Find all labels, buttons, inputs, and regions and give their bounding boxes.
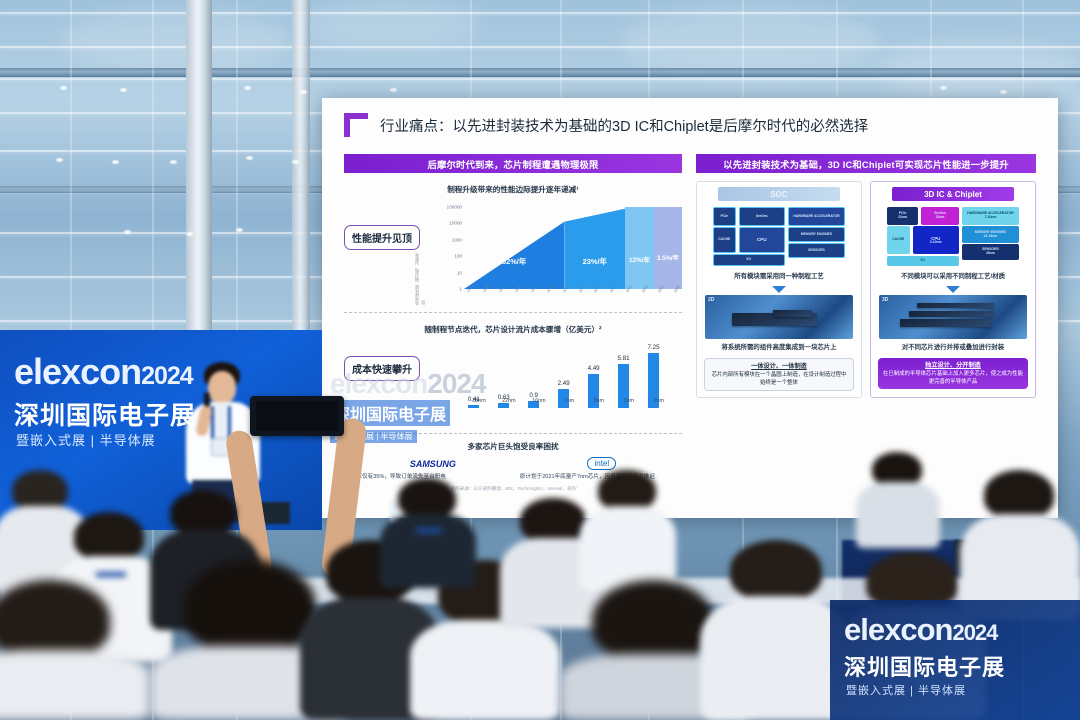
chiplet-block-cache: CACHE bbox=[887, 226, 910, 253]
ytick: 10000 bbox=[449, 221, 462, 226]
soc-stack-note: 将系统所需的组件高度集成到一块芯片上 bbox=[701, 343, 857, 353]
audience-member bbox=[856, 452, 940, 548]
area-segment-label: 12%/年 bbox=[625, 255, 653, 264]
photo-tag-3d: 3D bbox=[882, 297, 888, 303]
block-node: 22nm bbox=[936, 216, 945, 220]
corner-bracket-icon bbox=[344, 113, 368, 137]
ytick: 1 bbox=[459, 287, 462, 292]
slide-right-column: 以先进封装技术为基础，3D IC和Chiplet可实现芯片性能进一步提升 SOC… bbox=[696, 154, 1036, 398]
ytick: 10 bbox=[457, 270, 462, 275]
soc-block-cpu: CPU bbox=[739, 227, 785, 253]
chiplet-block-cpu: CPU 3-10nm bbox=[913, 226, 959, 253]
down-arrow-icon bbox=[772, 286, 786, 293]
area-chart: 性能提升见顶 单线程性能（相对值，对数坐标） 1 10 100 1000 100… bbox=[344, 199, 682, 305]
audience-member bbox=[960, 470, 1080, 620]
soc-note: 所有模块需采用同一种制程工艺 bbox=[701, 272, 857, 282]
bar-chart-caption: 随制程节点迭代，芯片设计流片成本骤增（亿美元）² bbox=[344, 324, 682, 335]
left-section-band: 后摩尔时代到来，芯片制程遭遇物理极限 bbox=[344, 154, 682, 173]
area-chart-ylabel: 单线程性能（相对值，对数坐标） bbox=[414, 249, 426, 305]
chiplet-block-sensors: SENSORS 28nm bbox=[962, 244, 1020, 260]
bar-category: 3nm bbox=[624, 398, 635, 404]
audience-member bbox=[580, 470, 676, 590]
ytick: 100 bbox=[454, 254, 462, 259]
soc-callout: 一体设计、一体制造 芯片内部所有模块在一个晶圆上制造，在设计制造过程中始终是一个… bbox=[704, 358, 854, 392]
vendor-logos: SAMSUNG intel bbox=[344, 457, 682, 470]
area-segment-label: 23%/年 bbox=[564, 256, 625, 267]
chiplet-block-hardware-accelerator: HARDWARE ACCELERATOR 7-10nm bbox=[962, 207, 1020, 224]
chiplet-note: 不同模块可以采用不同制程工艺/材质 bbox=[875, 272, 1031, 282]
samsung-logo: SAMSUNG bbox=[410, 459, 456, 469]
block-node: 3-10nm bbox=[930, 241, 942, 245]
chiplet-3d-photo: 3D bbox=[879, 295, 1027, 339]
chiplet-block-io: I/O bbox=[887, 256, 959, 267]
chiplet-callout-title: 独立设计、分开制造 bbox=[882, 361, 1024, 370]
pill-cost-rise: 成本快速攀升 bbox=[344, 356, 420, 381]
soc-block-io: I/O bbox=[713, 254, 785, 265]
chiplet-block-serdes: SerDes 22nm bbox=[921, 207, 958, 224]
photo-tag-2d: 2D bbox=[708, 297, 714, 303]
area-segment-label: 52%/年 bbox=[464, 256, 564, 267]
left-band-label: 后摩尔时代到来，芯片制程遭遇物理极限 bbox=[428, 157, 599, 171]
backdrop-brand: elexcon2024 bbox=[14, 354, 193, 390]
bar-category: 16nm bbox=[532, 398, 546, 404]
soc-header: SOC bbox=[718, 187, 840, 201]
bar-value: 5.81 bbox=[618, 355, 630, 362]
backdrop-cn: 深圳国际电子展 bbox=[14, 396, 196, 432]
slide-left-column: 后摩尔时代到来，芯片制程遭遇物理极限 制程升级带来的性能边际提升逐年递减¹ 性能… bbox=[344, 154, 682, 492]
area-segment-23: 23%/年 bbox=[564, 207, 625, 289]
yield-caption: 多家芯片巨头饱受良率困扰 bbox=[344, 441, 682, 452]
backdrop-brand-text: elexcon bbox=[14, 351, 141, 392]
audience-member bbox=[380, 478, 476, 588]
br-brand: elexcon2024 bbox=[844, 614, 997, 645]
br-sub: 暨嵌入式展 | 半导体展 bbox=[846, 682, 966, 698]
ytick: 1000 bbox=[452, 237, 462, 242]
bar-category: 28nm bbox=[472, 398, 486, 404]
audience-member-foreground bbox=[0, 580, 150, 720]
chiplet-block-pcie: PCIe 22nm bbox=[887, 207, 919, 224]
chiplet-panel: 3D IC & Chiplet PCIe 22nm SerDes 22nm HA… bbox=[870, 181, 1036, 398]
soc-block-cache: CACHE bbox=[713, 227, 736, 253]
bottom-right-banner: elexcon2024 深圳国际电子展 暨嵌入式展 | 半导体展 bbox=[830, 600, 1080, 720]
br-year-text: 2024 bbox=[952, 620, 997, 645]
ytick: 100000 bbox=[447, 205, 462, 210]
soc-header-label: SOC bbox=[770, 190, 787, 199]
br-brand-text: elexcon bbox=[844, 612, 952, 647]
slide-title: 行业痛点：以先进封装技术为基础的3D IC和Chiplet是后摩尔时代的必然选择 bbox=[380, 115, 868, 136]
bar-category: 2nm bbox=[653, 398, 664, 404]
phone-screen bbox=[256, 401, 338, 431]
soc-block-memory-engines: MEMORY ENGINES bbox=[788, 227, 846, 242]
chiplet-block-memory-engines: MEMORY ENGINES 14-16nm bbox=[962, 226, 1020, 242]
divider-dashed bbox=[344, 312, 682, 313]
area-segment-label: 3.5%/年 bbox=[654, 253, 682, 262]
chiplet-header: 3D IC & Chiplet bbox=[892, 187, 1014, 201]
bar-value: 7.25 bbox=[648, 344, 660, 351]
presentation-slide: 行业痛点：以先进封装技术为基础的3D IC和Chiplet是后摩尔时代的必然选择… bbox=[322, 98, 1058, 518]
block-node: 28nm bbox=[986, 252, 995, 256]
br-cn: 深圳国际电子展 bbox=[844, 650, 1005, 682]
chiplet-block-diagram: PCIe 22nm SerDes 22nm HARDWARE ACCELERAT… bbox=[881, 206, 1025, 268]
soc-2d-photo: 2D bbox=[705, 295, 853, 339]
right-band-label: 以先进封装技术为基础，3D IC和Chiplet可实现芯片性能进一步提升 bbox=[723, 157, 1009, 171]
chiplet-callout-body: 在已制成的半导体芯片基础上加入更多芯片，使之成为性能更完善的半导体产品 bbox=[882, 370, 1024, 386]
pill-performance-peak: 性能提升见顶 bbox=[344, 225, 420, 250]
bar-category: 7nm bbox=[564, 398, 575, 404]
area-segment-52: 52%/年 bbox=[464, 207, 564, 289]
area-chart-caption: 制程升级带来的性能边际提升逐年递减¹ bbox=[344, 184, 682, 195]
intel-logo: intel bbox=[587, 457, 616, 470]
block-node: 22nm bbox=[898, 216, 907, 220]
soc-block-pcie: PCIe bbox=[713, 207, 736, 226]
soc-block-hardware-accelerator: HARDWARE ACCELERATOR bbox=[788, 207, 846, 226]
block-node: 14-16nm bbox=[984, 235, 998, 239]
soc-block-serdes: SerDes bbox=[739, 207, 785, 226]
area-segment-35: 3.5%/年 bbox=[654, 207, 682, 289]
chiplet-stack-note: 对不同芯片进行并排或叠加进行封装 bbox=[875, 343, 1031, 353]
bar-value: 2.49 bbox=[558, 380, 570, 387]
soc-panel: SOC PCIe SerDes HARDWARE ACCELERATOR CAC… bbox=[696, 181, 862, 398]
bar-category: 22nm bbox=[502, 398, 516, 404]
soc-block-diagram: PCIe SerDes HARDWARE ACCELERATOR CACHE C… bbox=[707, 206, 851, 268]
soc-callout-title: 一体设计、一体制造 bbox=[709, 362, 849, 371]
conference-photo-scene: 行业痛点：以先进封装技术为基础的3D IC和Chiplet是后摩尔时代的必然选择… bbox=[0, 0, 1080, 720]
backdrop-sub: 暨嵌入式展 | 半导体展 bbox=[16, 430, 156, 449]
down-arrow-icon bbox=[946, 286, 960, 293]
bar-value: 4.49 bbox=[588, 365, 600, 372]
area-chart-yaxis: 1 10 100 1000 10000 100000 bbox=[428, 207, 462, 289]
soc-callout-body: 芯片内部所有模块在一个晶圆上制造，在设计制造过程中始终是一个整体 bbox=[709, 371, 849, 387]
divider-dashed bbox=[344, 433, 682, 434]
slide-title-row: 行业痛点：以先进封装技术为基础的3D IC和Chiplet是后摩尔时代的必然选择 bbox=[322, 108, 1058, 142]
area-segment-12: 12%/年 bbox=[625, 207, 653, 289]
chiplet-callout: 独立设计、分开制造 在已制成的半导体芯片基础上加入更多芯片，使之成为性能更完善的… bbox=[878, 358, 1028, 390]
chiplet-header-label: 3D IC & Chiplet bbox=[924, 190, 982, 199]
bar-chart: 成本快速攀升 0.41 0.63 0.9 2.49 bbox=[344, 340, 682, 426]
soc-block-sensors: SENSORS bbox=[788, 243, 846, 258]
area-chart-plot: 52%/年 23%/年 12%/年 3.5%/年 bbox=[464, 207, 682, 289]
bar-chart-categories: 28nm 22nm 16nm 7nm 5nm 3nm 2nm bbox=[464, 398, 678, 410]
soc-vs-chiplet-comparison: SOC PCIe SerDes HARDWARE ACCELERATOR CAC… bbox=[696, 181, 1036, 398]
audience-member bbox=[700, 540, 850, 720]
right-section-band: 以先进封装技术为基础，3D IC和Chiplet可实现芯片性能进一步提升 bbox=[696, 154, 1036, 173]
block-node: 7-10nm bbox=[984, 216, 996, 220]
area-chart-xaxis: 1985 1988 1991 1994 1997 2000 2003 2006 … bbox=[464, 291, 682, 305]
bar-category: 5nm bbox=[594, 398, 605, 404]
